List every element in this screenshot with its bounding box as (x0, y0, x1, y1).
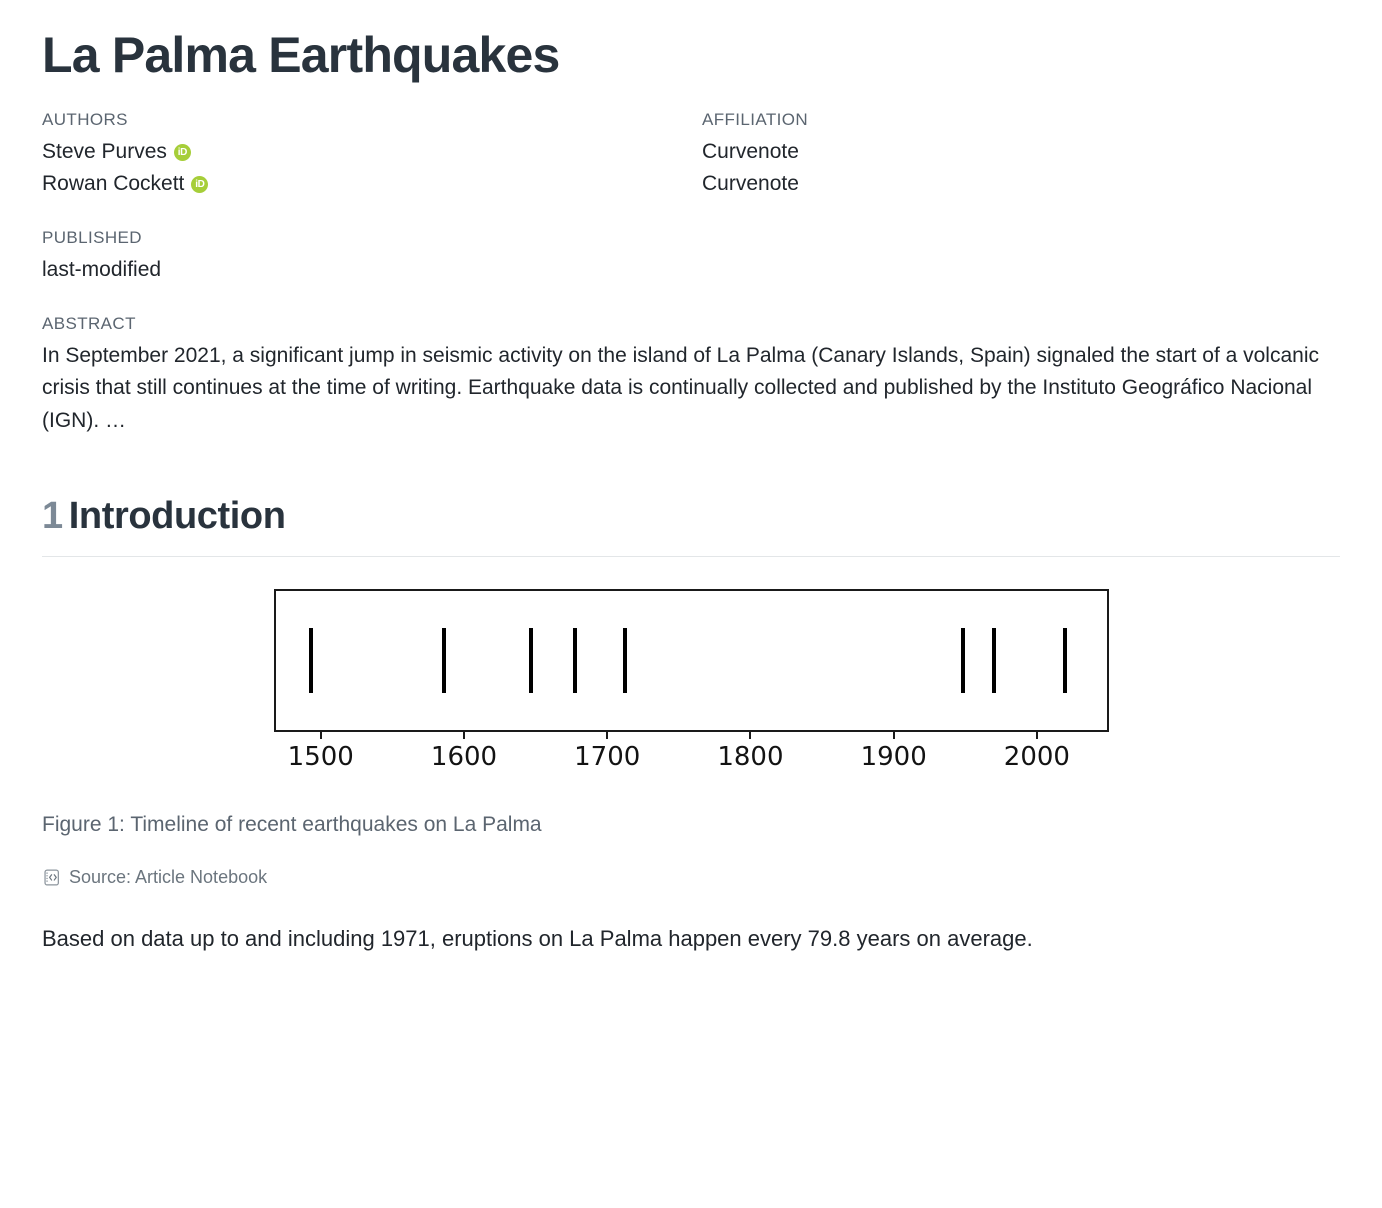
x-axis-tick-label: 2000 (1004, 742, 1070, 772)
authors-column: AUTHORS Steve Purves iD Rowan Cockett iD (42, 110, 702, 200)
x-axis-tick (606, 732, 608, 739)
article-page: La Palma Earthquakes AUTHORS Steve Purve… (0, 0, 1382, 1208)
x-axis-tick (893, 732, 895, 739)
author-entry: Rowan Cockett iD (42, 168, 702, 200)
event-mark (573, 628, 577, 693)
x-axis-tick (320, 732, 322, 739)
x-axis-tick (749, 732, 751, 739)
affiliation-label: AFFILIATION (702, 110, 1340, 130)
section-title: Introduction (69, 495, 286, 537)
orcid-icon[interactable]: iD (174, 144, 191, 161)
orcid-icon[interactable]: iD (191, 176, 208, 193)
figure-caption: Figure 1: Timeline of recent earthquakes… (42, 810, 1340, 840)
x-axis-tick (1036, 732, 1038, 739)
event-mark (309, 628, 313, 693)
notebook-code-icon (42, 868, 61, 887)
page-title: La Palma Earthquakes (42, 0, 1340, 84)
x-axis: 150016001700180019002000 (274, 732, 1109, 784)
published-label: PUBLISHED (42, 228, 1340, 248)
body-paragraph: Based on data up to and including 1971, … (42, 922, 1302, 956)
event-mark (1063, 628, 1067, 693)
figure-source[interactable]: Source: Article Notebook (42, 867, 1340, 888)
published-block: PUBLISHED last-modified (42, 228, 1340, 286)
figure-source-label: Source: Article Notebook (69, 867, 267, 888)
heading-divider (42, 556, 1340, 557)
abstract-text: In September 2021, a significant jump in… (42, 340, 1340, 438)
event-mark (992, 628, 996, 693)
x-axis-tick-label: 1700 (574, 742, 640, 772)
eventplot-chart: 150016001700180019002000 (274, 589, 1109, 784)
x-axis-tick-label: 1800 (717, 742, 783, 772)
x-axis-tick-label: 1600 (431, 742, 497, 772)
abstract-block: ABSTRACT In September 2021, a significan… (42, 314, 1340, 438)
plot-frame (274, 589, 1109, 732)
section-number: 1 (42, 495, 63, 537)
event-mark (623, 628, 627, 693)
x-axis-tick (463, 732, 465, 739)
metadata-grid: AUTHORS Steve Purves iD Rowan Cockett iD… (42, 110, 1340, 200)
event-mark (442, 628, 446, 693)
event-mark (529, 628, 533, 693)
event-mark (961, 628, 965, 693)
author-name: Steve Purves (42, 136, 167, 168)
affiliation-column: AFFILIATION Curvenote Curvenote (702, 110, 1340, 200)
author-entry: Steve Purves iD (42, 136, 702, 168)
authors-label: AUTHORS (42, 110, 702, 130)
affiliation-value: Curvenote (702, 168, 1340, 200)
abstract-label: ABSTRACT (42, 314, 1340, 334)
affiliation-value: Curvenote (702, 136, 1340, 168)
x-axis-tick-label: 1900 (861, 742, 927, 772)
author-name: Rowan Cockett (42, 168, 184, 200)
x-axis-tick-label: 1500 (288, 742, 354, 772)
published-value: last-modified (42, 254, 1340, 286)
section-heading: 1Introduction (42, 495, 1340, 538)
figure-container: 150016001700180019002000 (42, 589, 1340, 784)
